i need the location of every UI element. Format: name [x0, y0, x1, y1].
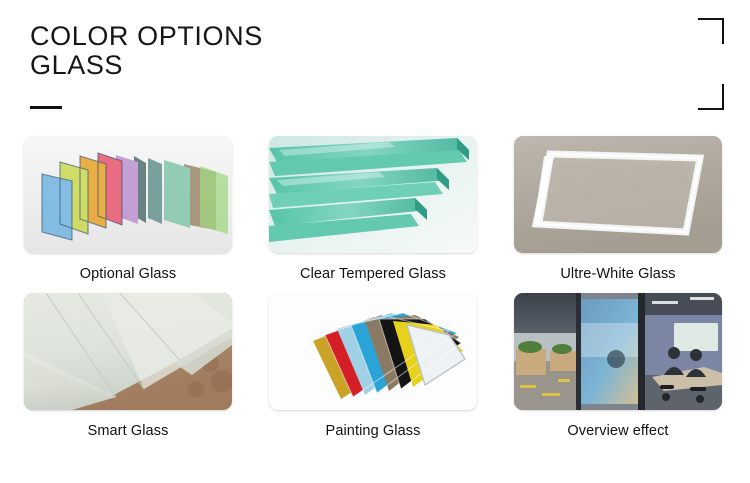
thumbnail-optional-glass[interactable] — [24, 136, 232, 253]
optional-glass-illustration — [24, 136, 232, 253]
caption-smart-glass: Smart Glass — [24, 423, 232, 439]
thumbnail-overview-effect[interactable] — [514, 293, 722, 410]
page-title-line-1: COLOR OPTIONS — [30, 22, 450, 51]
gallery-item-overview-effect[interactable]: Overview effect — [514, 293, 722, 439]
clear-tempered-glass-illustration — [269, 136, 477, 253]
gallery-item-optional-glass[interactable]: Optional Glass — [24, 136, 232, 282]
thumbnail-clear-tempered-glass[interactable] — [269, 136, 477, 253]
page-header: COLOR OPTIONS GLASS — [30, 22, 450, 109]
title-divider — [30, 106, 62, 109]
painting-glass-illustration — [269, 293, 477, 410]
ultre-white-glass-illustration — [514, 136, 722, 253]
caption-overview-effect: Overview effect — [514, 423, 722, 439]
page-title-line-2: GLASS — [30, 51, 450, 80]
product-gallery-grid: Optional Glass — [24, 136, 724, 439]
thumbnail-painting-glass[interactable] — [269, 293, 477, 410]
corner-bracket-top-right-icon — [698, 18, 724, 44]
caption-ultre-white-glass: Ultre-White Glass — [514, 266, 722, 282]
smart-glass-illustration — [24, 293, 232, 410]
gallery-item-ultre-white-glass[interactable]: Ultre-White Glass — [514, 136, 722, 282]
gallery-item-clear-tempered-glass[interactable]: Clear Tempered Glass — [269, 136, 477, 282]
caption-clear-tempered-glass: Clear Tempered Glass — [269, 266, 477, 282]
gallery-item-painting-glass[interactable]: Painting Glass — [269, 293, 477, 439]
gallery-item-smart-glass[interactable]: Smart Glass — [24, 293, 232, 439]
poster-page: COLOR OPTIONS GLASS — [0, 0, 750, 483]
caption-optional-glass: Optional Glass — [24, 266, 232, 282]
corner-bracket-bottom-right-icon — [698, 84, 724, 110]
thumbnail-ultre-white-glass[interactable] — [514, 136, 722, 253]
caption-painting-glass: Painting Glass — [269, 423, 477, 439]
thumbnail-smart-glass[interactable] — [24, 293, 232, 410]
overview-effect-illustration — [514, 293, 722, 410]
